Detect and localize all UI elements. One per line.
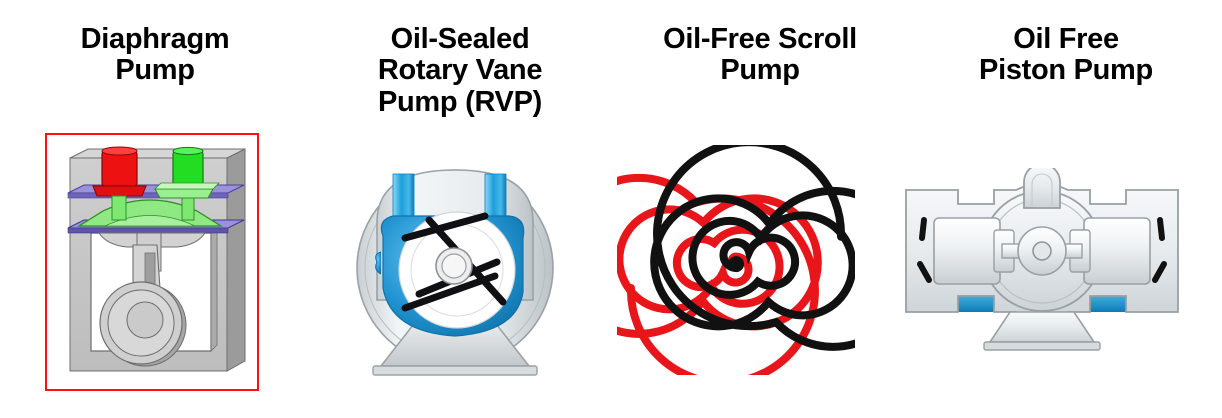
oil-free-piston-pump-diagram bbox=[898, 168, 1186, 358]
oil-sealed-rotary-vane-pump-diagram bbox=[333, 160, 577, 382]
panel-title-piston: Oil Free Piston Pump bbox=[910, 24, 1222, 87]
panel-title-diaphragm: Diaphragm Pump bbox=[0, 24, 310, 87]
oil-free-scroll-pump-diagram bbox=[617, 145, 855, 375]
diaphragm-pump-diagram bbox=[45, 133, 259, 391]
panel-title-rotary-vane: Oil-Sealed Rotary Vane Pump (RVP) bbox=[310, 24, 610, 118]
piston-motor-dome bbox=[1024, 168, 1060, 208]
piston-mounting-base bbox=[984, 312, 1100, 350]
piston-crank-hub bbox=[1018, 227, 1066, 275]
crank-wheel bbox=[100, 282, 186, 366]
rvp-rotor-hub bbox=[436, 248, 472, 284]
panel-title-scroll: Oil-Free Scroll Pump bbox=[610, 24, 910, 87]
